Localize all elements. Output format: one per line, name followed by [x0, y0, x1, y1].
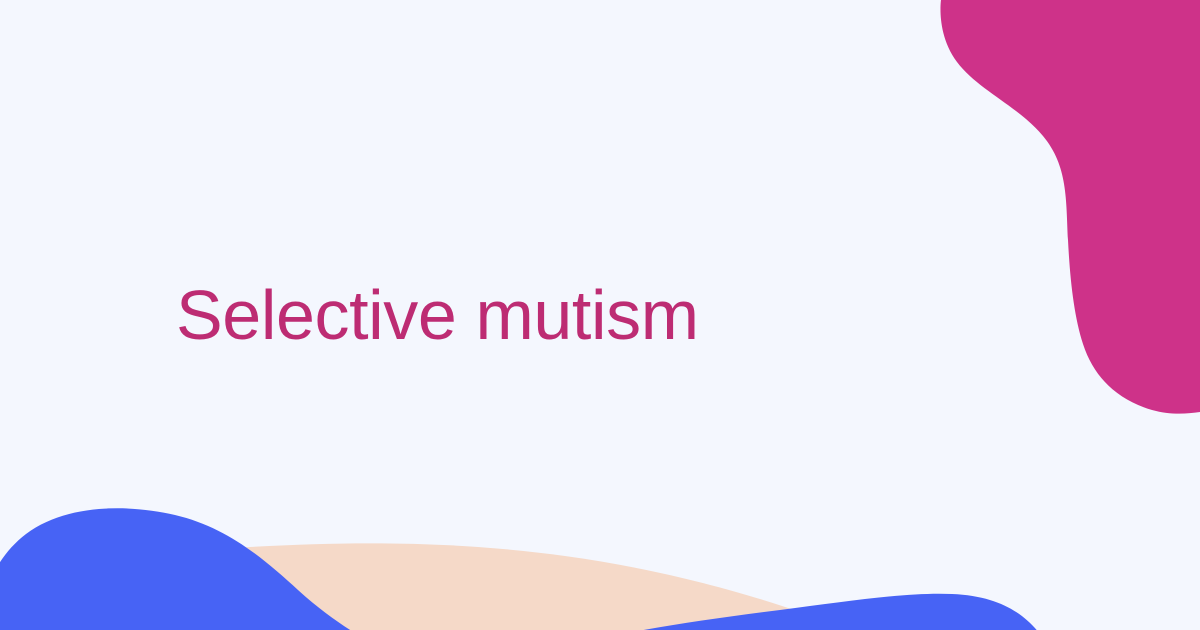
title-block: Selective mutism — [0, 0, 1200, 630]
open-graph-card: Selective mutism — [0, 0, 1200, 630]
page-title: Selective mutism — [176, 276, 699, 354]
